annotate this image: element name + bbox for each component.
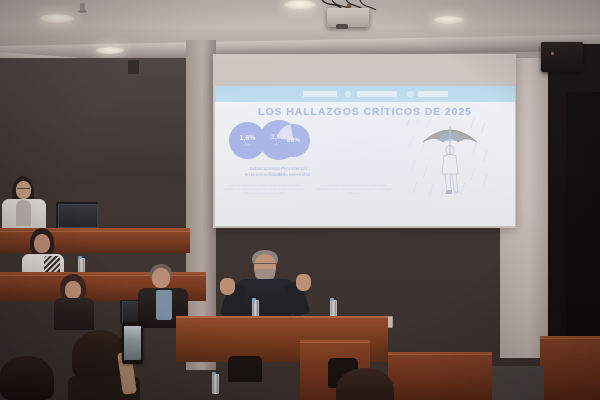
- bottle-cap: [252, 298, 256, 301]
- stat-value: 80%: [287, 137, 300, 144]
- head: [34, 234, 50, 253]
- ceiling-projector: [327, 8, 369, 27]
- water-bottle: [252, 300, 259, 317]
- umbrella-illustration-icon: [407, 112, 493, 198]
- stat-body-right: La mayoría de los hogares encuestados de…: [315, 184, 393, 195]
- logo-mark-1-dot-icon: [345, 91, 351, 97]
- sprinkler-head: [80, 3, 85, 12]
- bottle-cap: [78, 256, 82, 259]
- auditorium-chair: [228, 356, 262, 382]
- torso: [54, 298, 94, 330]
- speaker-indicator-light: [551, 52, 554, 55]
- hair: [0, 356, 54, 400]
- wall-speaker-right: [541, 42, 583, 72]
- stat-value: 1,8%: [240, 135, 256, 142]
- stat-label-right: Persistencia de la necesidad: [257, 166, 331, 179]
- head: [65, 281, 81, 299]
- stat-donut-chart: 80%: [277, 124, 310, 157]
- ceiling-light: [40, 14, 74, 23]
- logo-mark-1-icon: [303, 91, 337, 97]
- logo-mark-3-dot-icon: [407, 91, 414, 97]
- water-bottle: [330, 300, 337, 317]
- stat-sublabel: 2024: [244, 143, 251, 147]
- laptop-screen: [58, 204, 98, 228]
- glasses-icon: [254, 263, 276, 264]
- head: [16, 181, 31, 199]
- shirt: [156, 290, 172, 320]
- inner-top: [16, 200, 31, 226]
- ceiling-light: [284, 0, 316, 9]
- ceiling-light: [434, 16, 464, 24]
- slide-content: LOS HALLAZGOS CRÍTICOS DE 2025 1,8% 2024…: [215, 86, 515, 226]
- glasses-icon: [17, 188, 30, 189]
- presentation-photo: LOS HALLAZGOS CRÍTICOS DE 2025 1,8% 2024…: [0, 0, 600, 400]
- aisle-floor: [492, 366, 544, 400]
- ceiling-light: [96, 47, 124, 54]
- desk-tier-1: [0, 231, 190, 253]
- left-hand: [220, 278, 235, 295]
- wall-speaker-left: [128, 60, 139, 74]
- stat-body-left: La tasa de respuesta se mantuvo estable …: [223, 184, 305, 195]
- bottle-cap: [212, 372, 216, 375]
- desk-tier-right-1: [388, 354, 492, 400]
- bottle-cap: [330, 298, 334, 301]
- projector-lens: [336, 24, 348, 29]
- head: [152, 268, 170, 288]
- slide-topbar: [215, 86, 515, 102]
- water-bottle: [212, 374, 219, 394]
- right-hand: [296, 274, 311, 291]
- right-dark-panel-inner: [566, 92, 600, 342]
- logo-mark-3-icon: [418, 91, 448, 97]
- hair: [336, 368, 394, 400]
- phone-screen: [124, 326, 141, 360]
- logo-mark-2-icon: [357, 91, 397, 97]
- desk-tier-right-2: [540, 338, 600, 400]
